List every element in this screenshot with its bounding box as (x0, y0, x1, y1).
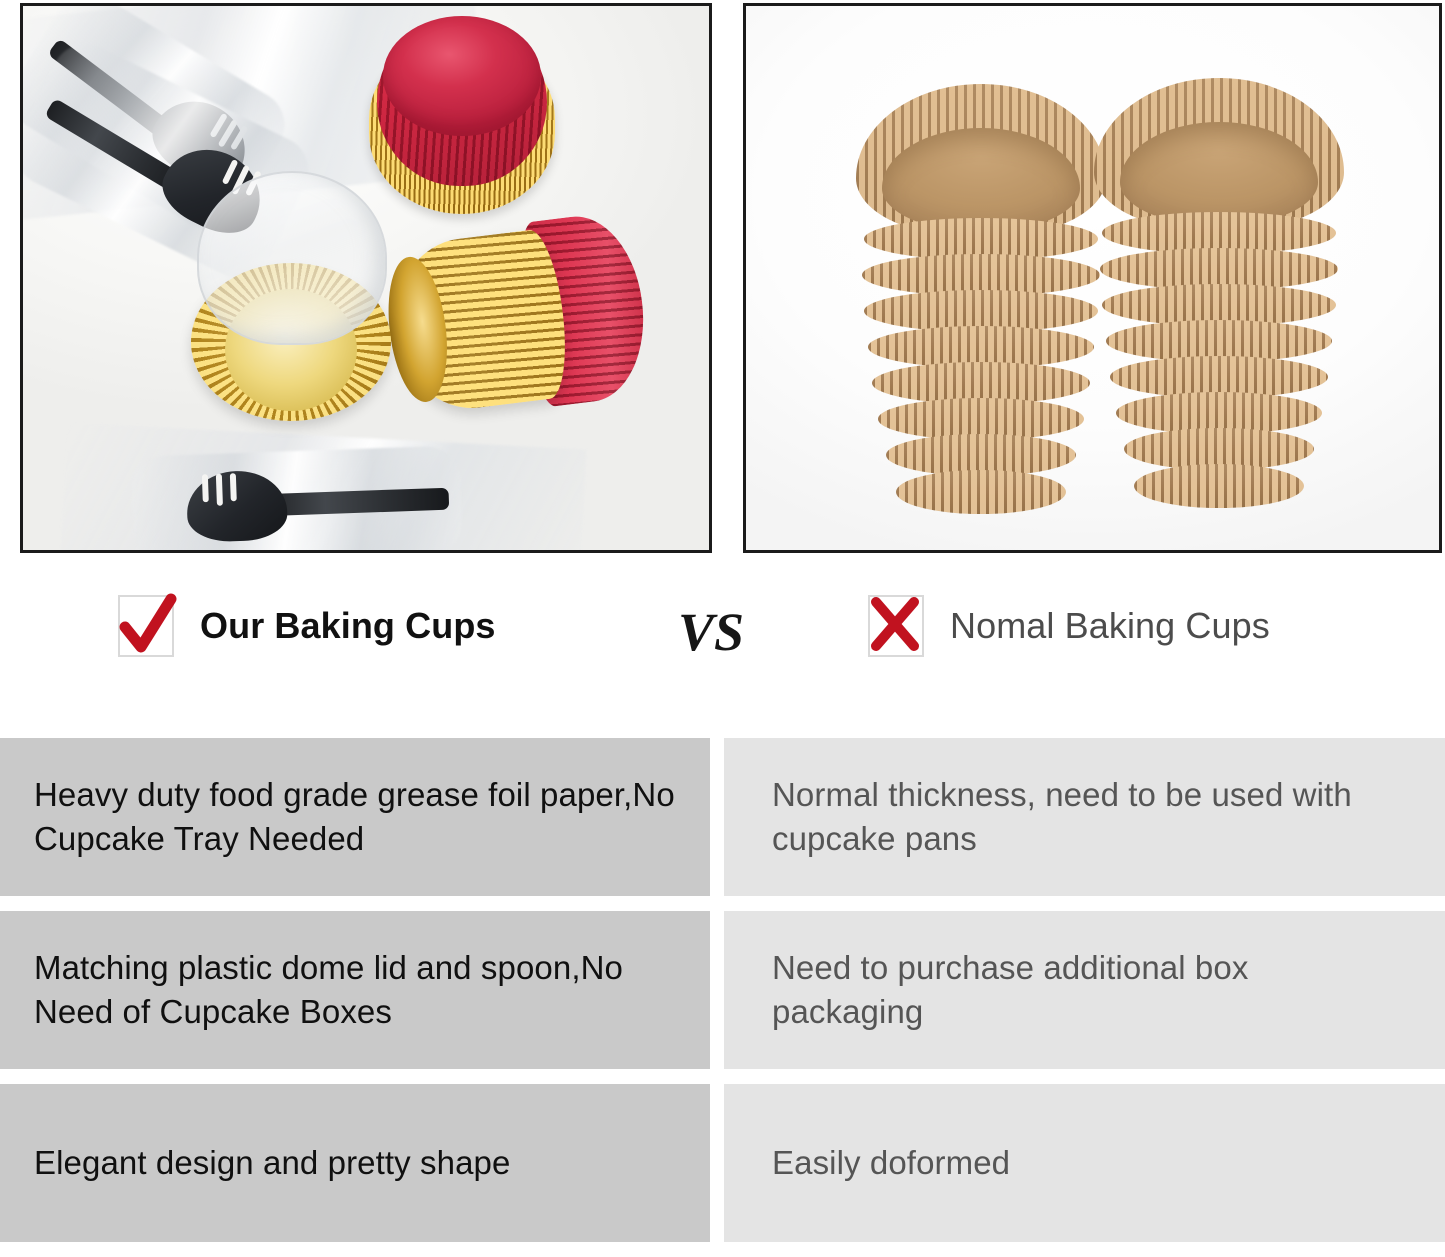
our-cups-label: Our Baking Cups (200, 605, 496, 647)
normal-feature-cell: Normal thickness, need to be used with c… (724, 738, 1445, 896)
comparison-table: Heavy duty food grade grease foil paper,… (0, 738, 1445, 1257)
our-feature-cell: Heavy duty food grade grease foil paper,… (0, 738, 710, 896)
kraft-liner-open (856, 84, 1106, 236)
normal-feature-text: Normal thickness, need to be used with c… (772, 773, 1372, 860)
product-photo-row (0, 3, 1445, 555)
kraft-liner-interior (1120, 122, 1318, 226)
clear-dome-lid (197, 171, 387, 345)
gold-foil-cup-with-dome-lid (191, 171, 391, 421)
kraft-liner-stack (856, 84, 1106, 534)
normal-feature-text: Need to purchase additional box packagin… (772, 946, 1372, 1033)
kraft-liner-interior (882, 128, 1080, 232)
kraft-liner-ring (896, 470, 1066, 514)
kraft-liner-open (1094, 78, 1344, 230)
red-gold-foil-baking-cup (369, 18, 555, 214)
comparison-row: Matching plastic dome lid and spoon,No N… (0, 911, 1445, 1069)
photo-our-baking-cups (20, 3, 712, 553)
our-feature-text: Matching plastic dome lid and spoon,No N… (34, 946, 676, 1033)
photo-normal-baking-cups (743, 3, 1442, 553)
our-feature-text: Heavy duty food grade grease foil paper,… (34, 773, 676, 860)
cross-mark-icon (865, 591, 925, 657)
normal-feature-cell: Need to purchase additional box packagin… (724, 911, 1445, 1069)
normal-feature-cell: Easily doformed (724, 1084, 1445, 1242)
comparison-row: Heavy duty food grade grease foil paper,… (0, 738, 1445, 896)
kraft-liner-stack (1094, 78, 1344, 528)
spork-tine (216, 474, 223, 506)
plastic-spork-wrapped (146, 456, 449, 550)
comparison-row: Elegant design and pretty shape Easily d… (0, 1084, 1445, 1242)
our-cups-header: Our Baking Cups (118, 595, 496, 657)
red-gold-foil-baking-cup-tipped (385, 210, 654, 425)
spork-tine (202, 474, 209, 502)
photo-right-content (746, 6, 1439, 550)
our-feature-text: Elegant design and pretty shape (34, 1141, 510, 1185)
cross-mark-box (868, 595, 924, 657)
comparison-header-row: Our Baking Cups VS Nomal Baking Cups (0, 595, 1445, 705)
normal-feature-text: Easily doformed (772, 1141, 1010, 1185)
normal-cups-label: Nomal Baking Cups (950, 605, 1270, 647)
spork-tine (230, 473, 237, 501)
photo-left-content (23, 6, 709, 550)
normal-cups-header: Nomal Baking Cups (868, 595, 1270, 657)
vs-label: VS (678, 601, 744, 663)
our-feature-cell: Matching plastic dome lid and spoon,No N… (0, 911, 710, 1069)
kraft-liner-ring (1134, 464, 1304, 508)
check-mark-icon (115, 591, 177, 661)
check-mark-box (118, 595, 174, 657)
red-foil-top (383, 16, 541, 136)
our-feature-cell: Elegant design and pretty shape (0, 1084, 710, 1242)
